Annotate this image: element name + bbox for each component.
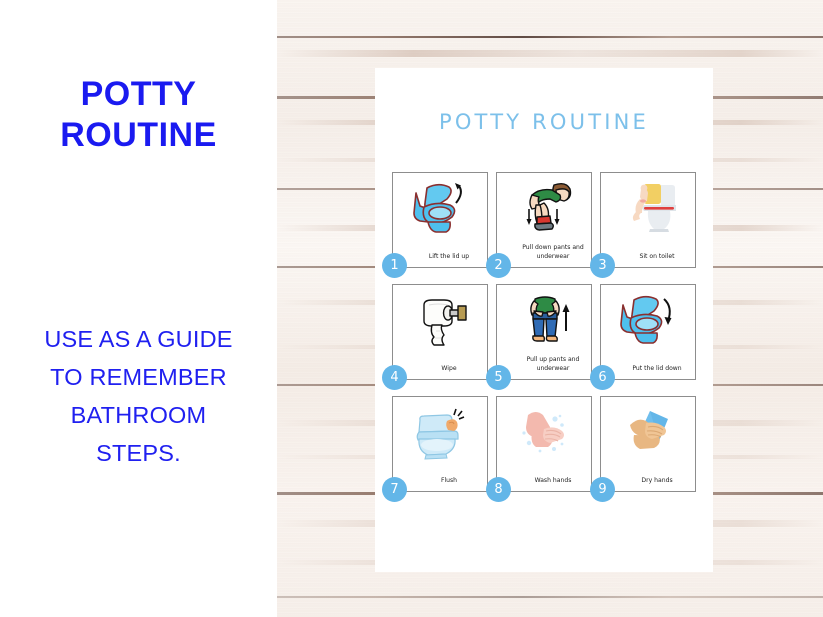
routine-card[interactable]: Put the lid down 6 (600, 284, 696, 380)
card-caption: Wipe (407, 365, 491, 374)
card-caption: Flush (407, 477, 491, 486)
page-title: POTTY ROUTINE (0, 74, 277, 156)
routine-card[interactable]: Pull down pants and underwear 2 (496, 172, 592, 268)
toilet-flush-icon (393, 401, 489, 463)
step-number-badge: 8 (486, 477, 511, 502)
child-sitting-on-toilet-icon (601, 177, 697, 239)
step-number-badge: 7 (382, 477, 407, 502)
card-caption: Wash hands (511, 477, 595, 486)
page-title-line: POTTY (0, 74, 277, 115)
step-number-badge: 2 (486, 253, 511, 278)
routine-card[interactable]: Flush 7 (392, 396, 488, 492)
page-subtitle-line: BATHROOM (0, 396, 277, 434)
routine-card[interactable]: Pull up pants and underwear 5 (496, 284, 592, 380)
page-subtitle-line: STEPS. (0, 434, 277, 472)
routine-card[interactable]: Lift the lid up 1 (392, 172, 488, 268)
toilet-lid-up-icon (393, 177, 489, 239)
page-subtitle: USE AS A GUIDE TO REMEMBER BATHROOM STEP… (0, 320, 277, 472)
washing-hands-icon (497, 401, 593, 463)
routine-card[interactable]: Sit on toilet 3 (600, 172, 696, 268)
toilet-lid-down-icon (601, 289, 697, 351)
routine-card-grid: Lift the lid up 1 (392, 172, 696, 492)
child-pulling-down-pants-icon (497, 177, 593, 239)
routine-card[interactable]: Dry hands 9 (600, 396, 696, 492)
card-caption: Pull up pants and underwear (511, 356, 595, 374)
card-caption: Put the lid down (615, 365, 699, 374)
page-subtitle-line: TO REMEMBER (0, 358, 277, 396)
poster-title: POTTY ROUTINE (375, 110, 713, 134)
listing-image: POTTY ROUTINE (0, 0, 823, 617)
page-subtitle-line: USE AS A GUIDE (0, 320, 277, 358)
step-number-badge: 6 (590, 365, 615, 390)
step-number-badge: 1 (382, 253, 407, 278)
child-pulling-up-pants-icon (497, 289, 593, 351)
card-caption: Lift the lid up (407, 253, 491, 262)
page-title-line: ROUTINE (0, 115, 277, 156)
toilet-paper-roll-icon (393, 289, 489, 351)
drying-hands-towel-icon (601, 401, 697, 463)
card-caption: Pull down pants and underwear (511, 244, 595, 262)
step-number-badge: 9 (590, 477, 615, 502)
card-caption: Sit on toilet (615, 253, 699, 262)
routine-card[interactable]: Wipe 4 (392, 284, 488, 380)
step-number-badge: 3 (590, 253, 615, 278)
card-caption: Dry hands (615, 477, 699, 486)
step-number-badge: 5 (486, 365, 511, 390)
routine-card[interactable]: Wash hands 8 (496, 396, 592, 492)
poster-sheet: POTTY ROUTINE (375, 68, 713, 572)
left-text-panel: POTTY ROUTINE USE AS A GUIDE TO REMEMBER… (0, 0, 277, 617)
step-number-badge: 4 (382, 365, 407, 390)
